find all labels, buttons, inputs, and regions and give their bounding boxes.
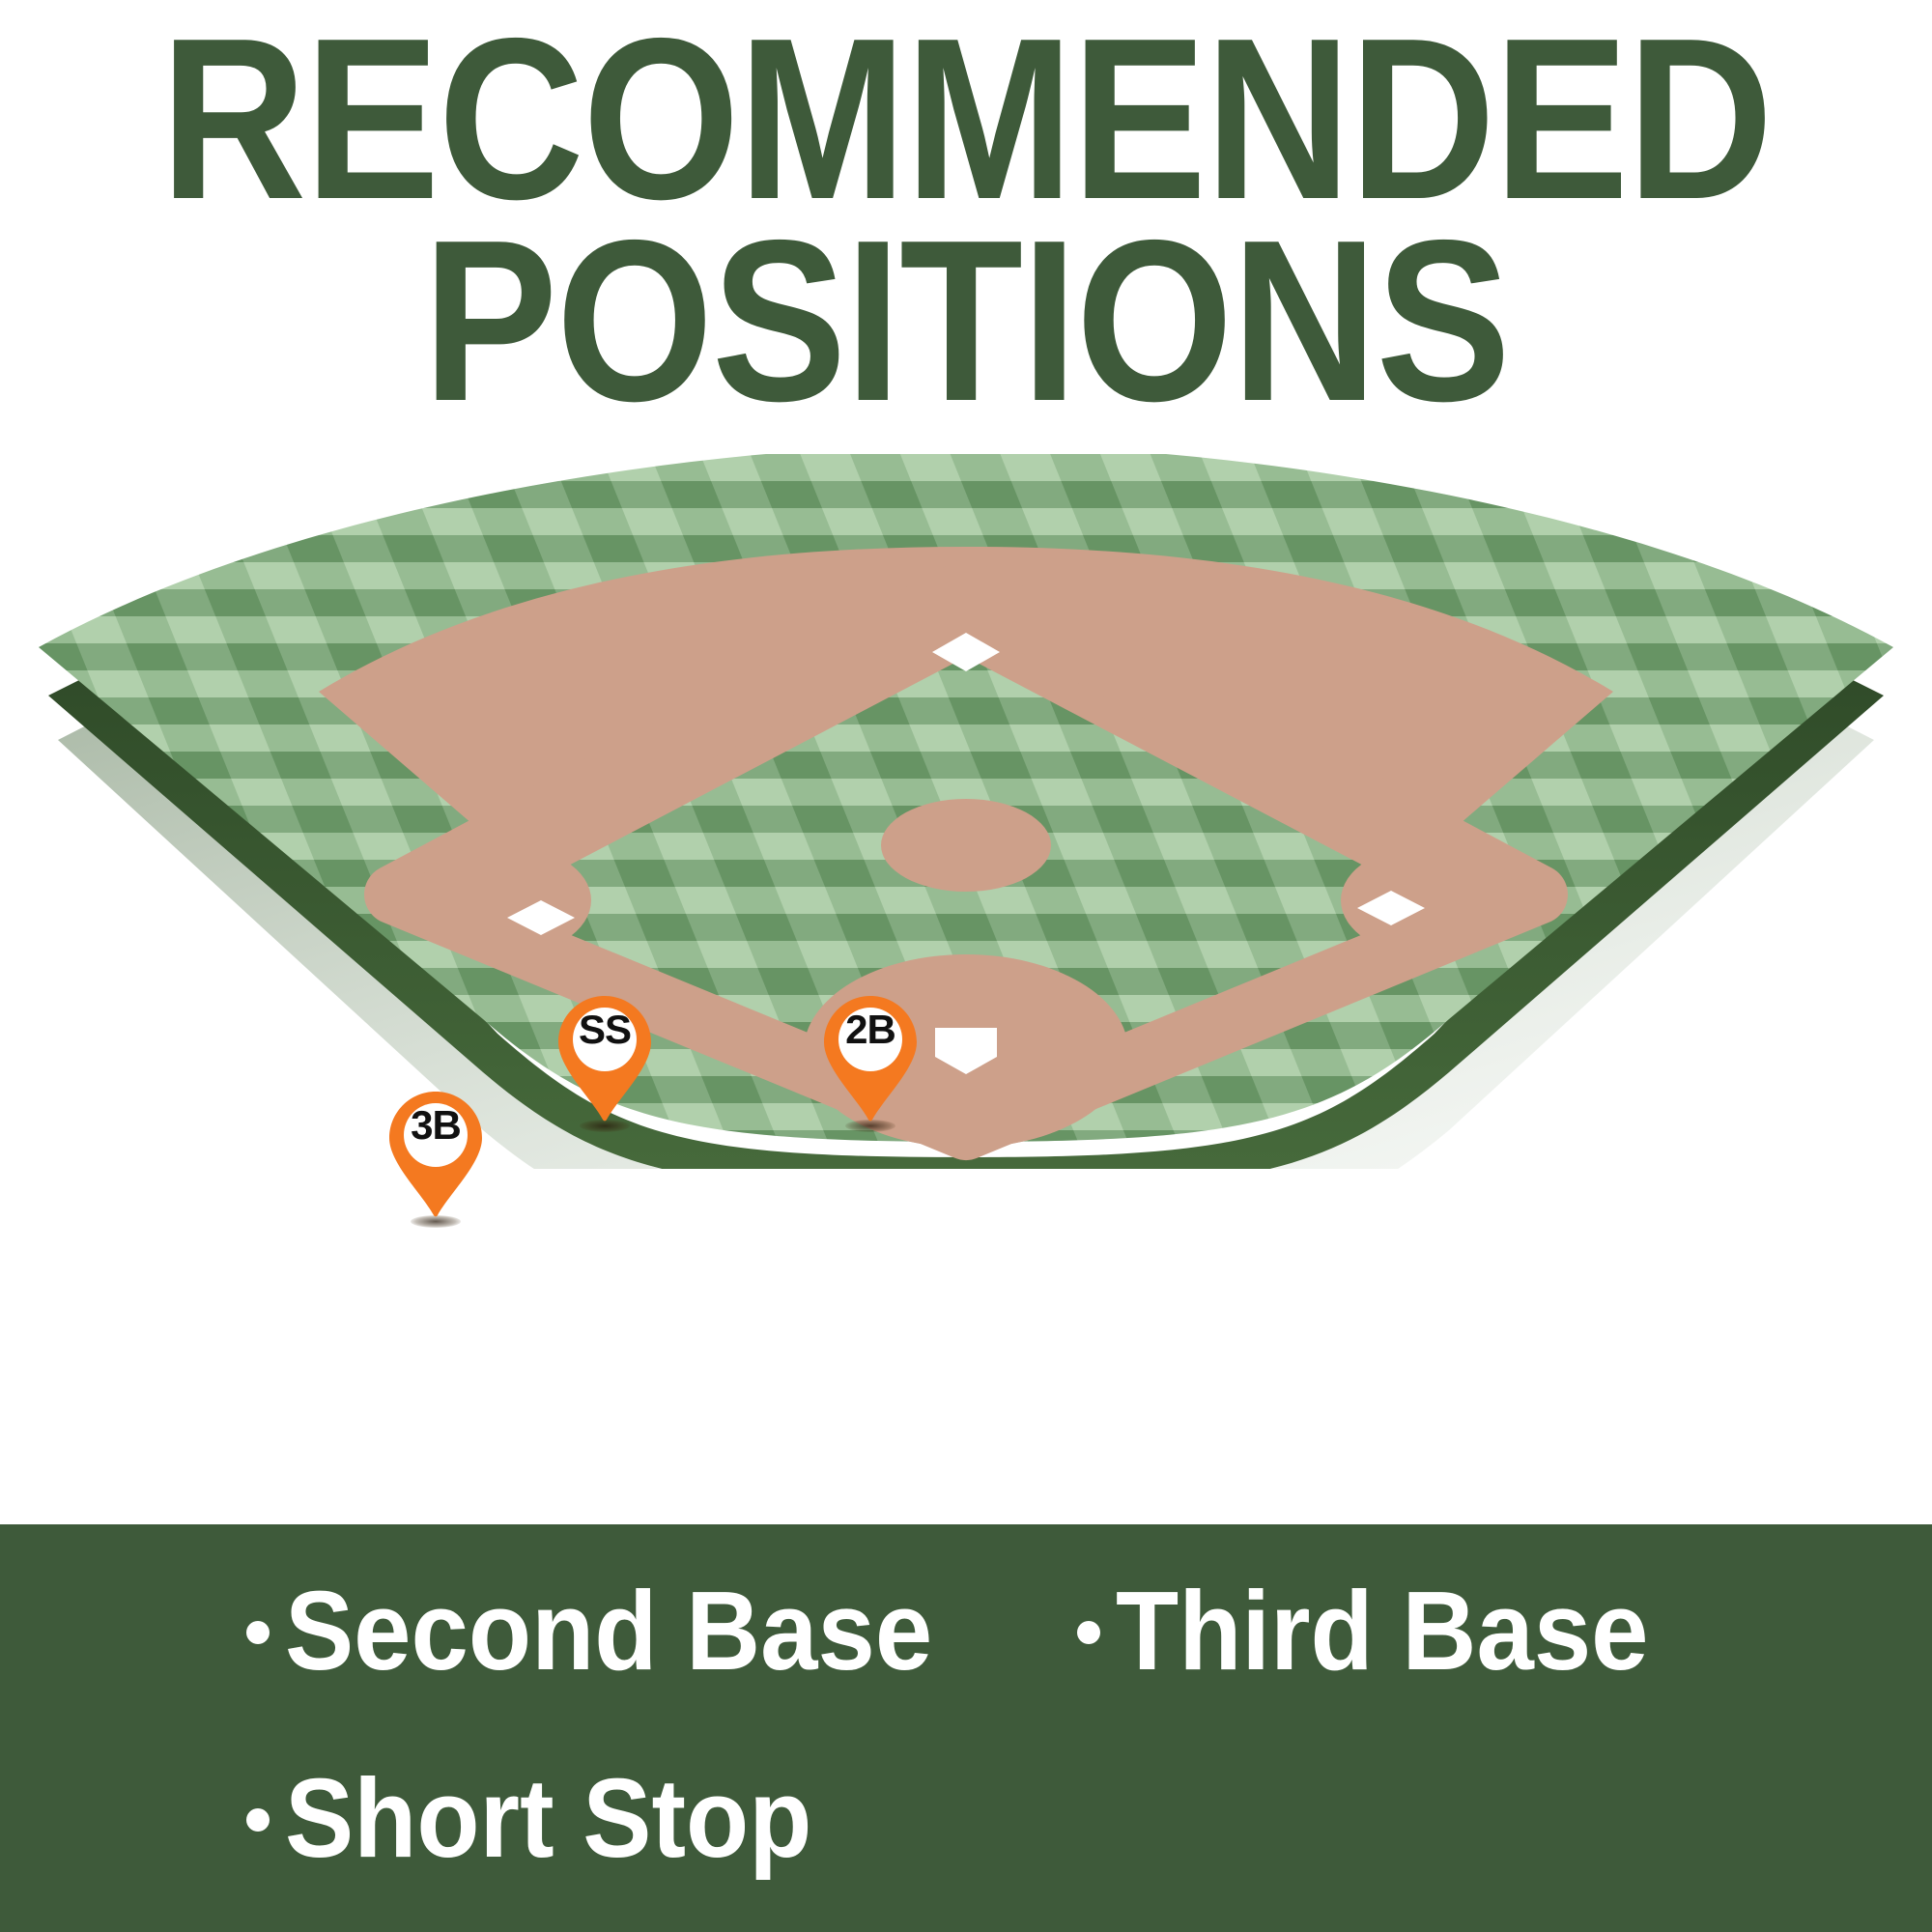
bullet-icon — [246, 1808, 270, 1832]
positions-list: Second Base Third Base Short Stop — [246, 1575, 1889, 1874]
field-svg — [0, 454, 1932, 1169]
bullet-icon — [246, 1621, 270, 1644]
page-title: RECOMMENDED POSITIONS — [0, 21, 1932, 420]
baseball-field-illustration: 3B SS 2B — [0, 454, 1932, 1169]
map-pin-icon — [389, 1092, 482, 1217]
third-base-marker[interactable]: 3B — [389, 1092, 482, 1225]
map-pin-icon — [824, 996, 917, 1122]
positions-banner: Second Base Third Base Short Stop — [0, 1524, 1932, 1932]
shortstop-marker[interactable]: SS — [558, 996, 651, 1129]
page-title-line-1: RECOMMENDED — [116, 21, 1816, 219]
second-base-marker[interactable]: 2B — [824, 996, 917, 1129]
positions-row-2: Short Stop — [246, 1762, 1889, 1874]
list-item-short-stop: Short Stop — [246, 1762, 858, 1874]
list-item-label: Second Base — [285, 1575, 932, 1687]
list-item-label: Third Base — [1116, 1575, 1649, 1687]
page-title-line-2: POSITIONS — [116, 223, 1816, 421]
list-item-third-base: Third Base — [1077, 1575, 1753, 1687]
list-item-second-base: Second Base — [246, 1575, 1077, 1687]
positions-row-1: Second Base Third Base — [246, 1575, 1889, 1687]
map-pin-icon — [558, 996, 651, 1122]
bullet-icon — [1077, 1621, 1100, 1644]
list-item-label: Short Stop — [285, 1762, 811, 1874]
